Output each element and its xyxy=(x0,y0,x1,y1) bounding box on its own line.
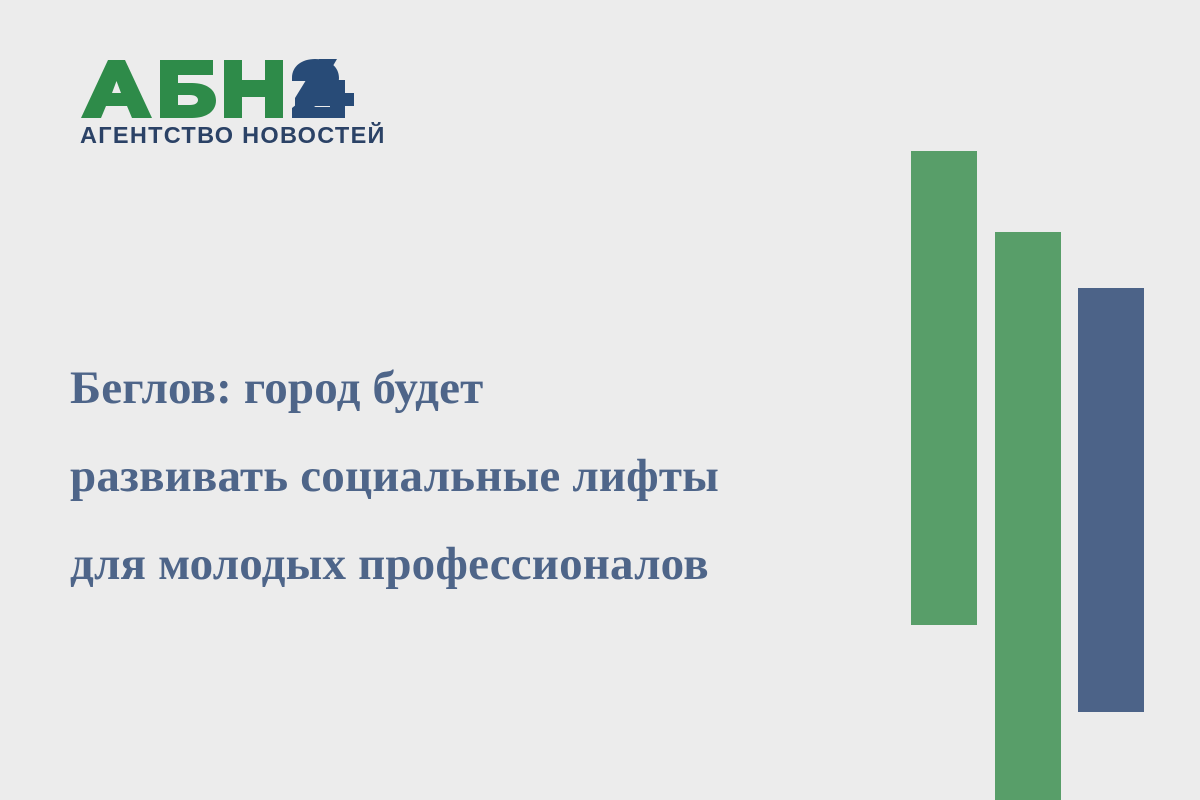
headline: Беглов: город будет развивать социальные… xyxy=(70,344,870,608)
decorative-bar-short-navy xyxy=(1078,288,1144,712)
decorative-bar-long-green xyxy=(995,232,1061,800)
headline-line-3: для молодых профессионалов xyxy=(70,520,870,608)
headline-line-2: развивать социальные лифты xyxy=(70,432,870,520)
logo-tagline: АГЕНТСТВО НОВОСТЕЙ xyxy=(80,124,370,148)
decorative-bar-tall-green xyxy=(911,151,977,625)
headline-line-1: Беглов: город будет xyxy=(70,344,870,432)
news-card: АГЕНТСТВО НОВОСТЕЙ Беглов: город будет р… xyxy=(0,0,1200,800)
logo[interactable]: АГЕНТСТВО НОВОСТЕЙ xyxy=(80,58,370,148)
abn24-wordmark-icon xyxy=(80,58,358,120)
